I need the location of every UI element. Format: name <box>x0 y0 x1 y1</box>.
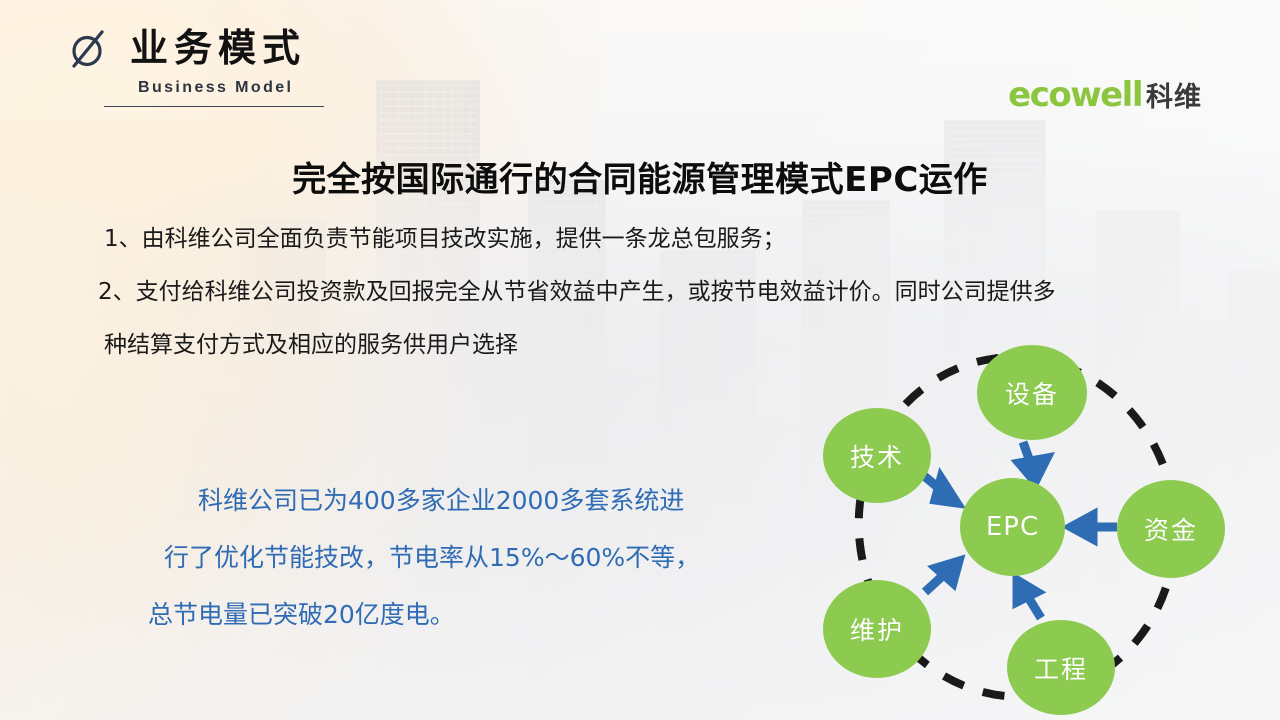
epc-node-gongcheng[interactable]: 工程 <box>1007 620 1115 715</box>
epc-node-shebei[interactable]: 设备 <box>977 345 1087 440</box>
epc-node-center[interactable]: EPC <box>960 478 1065 576</box>
epc-node-jishu[interactable]: 技术 <box>823 408 931 503</box>
epc-node-zijin[interactable]: 资金 <box>1117 480 1225 578</box>
brand-logo: ecowell 科维 <box>1008 78 1202 112</box>
page-subtitle: Business Model <box>138 79 324 97</box>
arrow-shebei-to-epc <box>1019 442 1047 482</box>
statistics-line-2: 行了优化节能技改，节电率从15%～60%不等， <box>120 529 740 586</box>
page-title: 业务模式 <box>130 29 306 67</box>
slide-header: 业务模式 Business Model <box>68 26 324 107</box>
logo-wordmark: ecowell <box>1008 78 1142 112</box>
arrow-jishu-to-epc <box>923 475 957 503</box>
bullet-item-1: 1、由科维公司全面负责节能项目技改实施，提供一条龙总包服务； <box>104 228 1254 251</box>
slide: 业务模式 Business Model ecowell 科维 完全按国际通行的合… <box>0 0 1280 720</box>
arrow-weihu-to-epc <box>925 561 959 592</box>
statistics-line-3: 总节电量已突破20亿度电。 <box>120 586 740 643</box>
epc-diagram: 设备 资金 工程 维护 技术 EPC <box>795 330 1265 720</box>
bullet-item-2: 2、支付给科维公司投资款及回报完全从节省效益中产生，或按节电效益计价。同时公司提… <box>98 281 1254 304</box>
statistics-block: 科维公司已为400多家企业2000多套系统进 行了优化节能技改，节电率从15%～… <box>120 472 740 643</box>
headline: 完全按国际通行的合同能源管理模式EPC运作 <box>0 152 1280 201</box>
statistics-line-1: 科维公司已为400多家企业2000多套系统进 <box>120 472 740 529</box>
arrow-gongcheng-to-epc <box>1017 580 1041 618</box>
slash-circle-icon <box>68 26 108 70</box>
header-divider <box>104 106 324 107</box>
epc-node-weihu[interactable]: 维护 <box>823 580 931 678</box>
arrow-zijin-to-epc <box>1071 515 1117 539</box>
logo-chinese-name: 科维 <box>1146 84 1202 111</box>
